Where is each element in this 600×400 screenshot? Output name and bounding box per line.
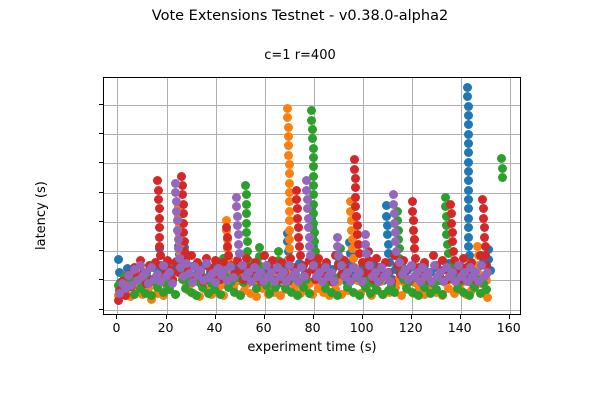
x-tick-mark xyxy=(509,315,510,319)
scatter-point xyxy=(463,92,472,101)
scatter-point xyxy=(309,162,318,171)
y-tick-mark xyxy=(99,250,103,251)
scatter-point xyxy=(305,233,314,242)
scatter-point xyxy=(302,186,311,195)
scatter-point xyxy=(155,214,164,223)
scatter-point xyxy=(464,186,473,195)
scatter-point xyxy=(216,290,225,299)
scatter-point xyxy=(293,214,302,223)
scatter-point xyxy=(296,251,305,260)
scatter-point xyxy=(304,214,313,223)
scatter-point xyxy=(464,233,473,242)
scatter-point xyxy=(352,212,361,221)
scatter-point xyxy=(307,116,316,125)
scatter-point xyxy=(284,123,293,132)
scatter-point xyxy=(241,181,250,190)
scatter-point xyxy=(464,223,473,232)
scatter-point xyxy=(285,235,294,244)
scatter-point xyxy=(242,200,251,209)
scatter-point xyxy=(464,102,473,111)
scatter-point xyxy=(480,223,489,232)
scatter-point xyxy=(383,268,392,277)
y-tick-mark xyxy=(99,104,103,105)
scatter-point xyxy=(168,279,177,288)
x-tick-label: 100 xyxy=(350,320,374,335)
scatter-point xyxy=(358,277,367,286)
scatter-point xyxy=(308,125,317,134)
scatter-point xyxy=(351,174,360,183)
y-tick-mark xyxy=(99,309,103,310)
scatter-point xyxy=(114,255,123,264)
scatter-point xyxy=(307,106,316,115)
scatter-point xyxy=(236,291,245,300)
scatter-point xyxy=(464,148,473,157)
scatter-point xyxy=(155,204,164,213)
y-tick-mark xyxy=(99,221,103,222)
x-tick-mark xyxy=(362,315,363,319)
scatter-point xyxy=(355,291,364,300)
scatter-point xyxy=(232,202,241,211)
scatter-point xyxy=(308,134,317,143)
scatter-point xyxy=(464,176,473,185)
scatter-point xyxy=(154,195,163,204)
scatter-point xyxy=(292,186,301,195)
scatter-point xyxy=(361,230,370,239)
scatter-point xyxy=(449,247,458,256)
scatter-point xyxy=(372,254,381,263)
scatter-point xyxy=(481,242,490,251)
scatter-point xyxy=(333,291,342,300)
scatter-point xyxy=(463,83,472,92)
scatter-point xyxy=(478,195,487,204)
scatter-point xyxy=(327,268,336,277)
scatter-point xyxy=(498,164,507,173)
scatter-point xyxy=(351,183,360,192)
scatter-point xyxy=(233,221,242,230)
scatter-point xyxy=(389,190,398,199)
scatter-point xyxy=(242,219,251,228)
y-tick-mark xyxy=(99,133,103,134)
scatter-point xyxy=(414,291,423,300)
scatter-point xyxy=(171,179,180,188)
scatter-point xyxy=(292,195,301,204)
scatter-point xyxy=(464,242,473,251)
scatter-point xyxy=(480,233,489,242)
scatter-point xyxy=(447,209,456,218)
x-tick-mark xyxy=(264,315,265,319)
scatter-point xyxy=(243,237,252,246)
x-tick-mark xyxy=(313,315,314,319)
scatter-point xyxy=(333,233,342,242)
scatter-point xyxy=(408,207,417,216)
scatter-point xyxy=(464,111,473,120)
scatter-point xyxy=(464,195,473,204)
x-tick-mark xyxy=(166,315,167,319)
scatter-point xyxy=(351,193,360,202)
scatter-point xyxy=(350,165,359,174)
scatter-point xyxy=(285,216,294,225)
scatter-point xyxy=(464,167,473,176)
x-tick-label: 0 xyxy=(112,320,120,335)
scatter-point xyxy=(409,226,418,235)
scatter-point xyxy=(448,237,457,246)
x-tick-mark xyxy=(215,315,216,319)
x-tick-mark xyxy=(411,315,412,319)
scatter-point xyxy=(235,249,244,258)
scatter-point xyxy=(408,197,417,206)
scatter-point xyxy=(409,216,418,225)
x-tick-mark xyxy=(460,315,461,319)
scatter-point xyxy=(389,200,398,209)
scatter-point xyxy=(479,214,488,223)
scatter-point xyxy=(173,226,182,235)
scatter-point xyxy=(483,268,492,277)
x-tick-label: 160 xyxy=(497,320,521,335)
scatter-point xyxy=(283,113,292,122)
scatter-point xyxy=(294,223,303,232)
scatter-point xyxy=(410,235,419,244)
x-tick-label: 20 xyxy=(158,320,174,335)
scatter-point xyxy=(285,160,294,169)
axes-title: c=1 r=400 xyxy=(0,48,600,63)
scatter-point xyxy=(351,202,360,211)
x-tick-label: 80 xyxy=(305,320,321,335)
scatter-point xyxy=(284,151,293,160)
x-tick-mark xyxy=(116,315,117,319)
figure: Vote Extensions Testnet - v0.38.0-alpha2… xyxy=(0,0,600,400)
scatter-point xyxy=(303,195,312,204)
scatter-point xyxy=(154,186,163,195)
scatter-point xyxy=(242,209,251,218)
scatter-point xyxy=(297,263,306,272)
scatter-points xyxy=(104,78,520,314)
scatter-point xyxy=(362,249,371,258)
scatter-point xyxy=(464,120,473,129)
scatter-point xyxy=(174,235,183,244)
scatter-point xyxy=(294,233,303,242)
scatter-point xyxy=(391,228,400,237)
scatter-point xyxy=(330,277,339,286)
scatter-point xyxy=(350,155,359,164)
scatter-point xyxy=(295,242,304,251)
scatter-point xyxy=(447,219,456,228)
scatter-point xyxy=(153,176,162,185)
scatter-point xyxy=(283,104,292,113)
scatter-point xyxy=(242,190,251,199)
scatter-point xyxy=(285,169,294,178)
scatter-point xyxy=(410,244,419,253)
scatter-point xyxy=(390,288,399,297)
x-tick-label: 40 xyxy=(207,320,223,335)
scatter-point xyxy=(234,230,243,239)
scatter-point xyxy=(498,173,507,182)
scatter-point xyxy=(165,268,174,277)
scatter-point xyxy=(223,233,232,242)
scatter-point xyxy=(446,200,455,209)
scatter-point xyxy=(234,240,243,249)
scatter-point xyxy=(242,228,251,237)
scatter-point xyxy=(448,228,457,237)
scatter-point xyxy=(274,247,283,256)
y-tick-mark xyxy=(99,192,103,193)
scatter-point xyxy=(464,139,473,148)
scatter-point xyxy=(392,247,401,256)
scatter-point xyxy=(438,290,447,299)
figure-suptitle: Vote Extensions Testnet - v0.38.0-alpha2 xyxy=(0,8,600,24)
scatter-point xyxy=(155,223,164,232)
scatter-point xyxy=(309,144,318,153)
x-tick-label: 120 xyxy=(399,320,423,335)
scatter-point xyxy=(355,268,364,277)
scatter-point xyxy=(285,179,294,188)
scatter-point xyxy=(464,130,473,139)
scatter-point xyxy=(386,277,395,286)
plot-axes xyxy=(103,77,521,315)
y-tick-mark xyxy=(99,279,103,280)
scatter-point xyxy=(429,251,438,260)
scatter-point xyxy=(361,240,370,249)
x-axis-label: experiment time (s) xyxy=(103,340,521,355)
scatter-point xyxy=(353,221,362,230)
x-tick-label: 140 xyxy=(448,320,472,335)
x-tick-label: 60 xyxy=(256,320,272,335)
scatter-point xyxy=(252,292,261,301)
y-tick-mark xyxy=(99,162,103,163)
scatter-point xyxy=(232,193,241,202)
scatter-point xyxy=(305,289,314,298)
scatter-point xyxy=(464,158,473,167)
scatter-point xyxy=(390,219,399,228)
scatter-point xyxy=(293,291,302,300)
scatter-point xyxy=(155,233,164,242)
scatter-point xyxy=(155,242,164,251)
scatter-point xyxy=(226,262,235,271)
scatter-point xyxy=(464,204,473,213)
y-axis-label: latency (s) xyxy=(34,181,49,250)
scatter-point xyxy=(309,153,318,162)
scatter-point xyxy=(479,204,488,213)
scatter-point xyxy=(173,216,182,225)
scatter-point xyxy=(171,290,180,299)
scatter-point xyxy=(284,132,293,141)
scatter-point xyxy=(333,242,342,251)
scatter-point xyxy=(293,204,302,213)
scatter-point xyxy=(285,226,294,235)
scatter-point xyxy=(260,251,269,260)
scatter-point xyxy=(233,212,242,221)
scatter-point xyxy=(464,214,473,223)
scatter-point xyxy=(390,209,399,218)
scatter-point xyxy=(497,154,506,163)
scatter-point xyxy=(284,141,293,150)
scatter-point xyxy=(465,291,474,300)
